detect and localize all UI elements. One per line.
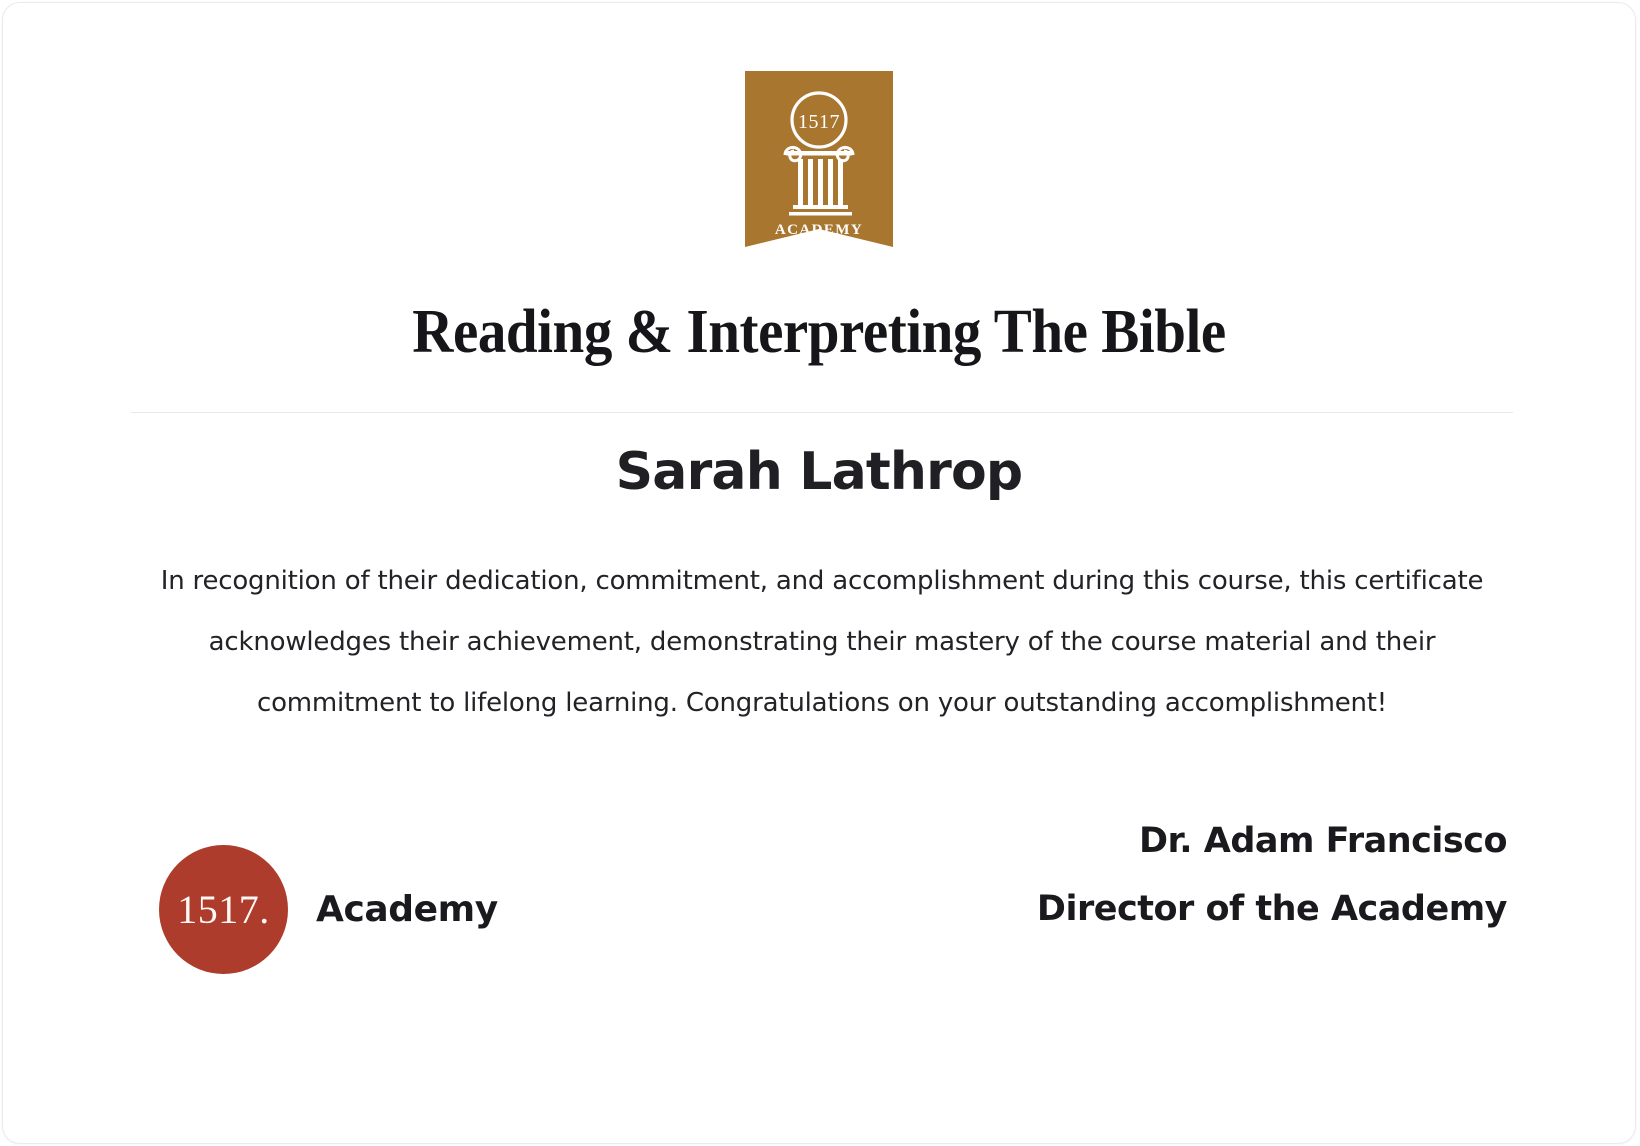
academy-banner-logo-icon: 1517 ACADEMY <box>745 71 893 247</box>
svg-text:ACADEMY: ACADEMY <box>775 222 863 238</box>
1517-seal-icon: 1517. <box>159 845 288 974</box>
svg-text:1517: 1517 <box>798 111 840 133</box>
course-title: Reading & Interpreting The Bible <box>68 299 1569 366</box>
certificate-footer: 1517. Academy Dr. Adam Francisco Directo… <box>131 793 1507 968</box>
logo-banner-container: 1517 ACADEMY <box>3 71 1635 247</box>
recipient-name: Sarah Lathrop <box>3 443 1635 503</box>
certificate-card: 1517 ACADEMY Reading & Interpreting The … <box>2 2 1636 1144</box>
seal-label: 1517. <box>177 890 270 930</box>
academy-label: Academy <box>316 889 498 930</box>
academy-branding: 1517. Academy <box>159 845 498 974</box>
signer-name: Dr. Adam Francisco <box>1037 807 1507 875</box>
certificate-body-text: In recognition of their dedication, comm… <box>131 551 1513 734</box>
signer-role: Director of the Academy <box>1037 875 1507 943</box>
signature-block: Dr. Adam Francisco Director of the Acade… <box>1037 807 1507 943</box>
title-divider <box>131 412 1513 413</box>
